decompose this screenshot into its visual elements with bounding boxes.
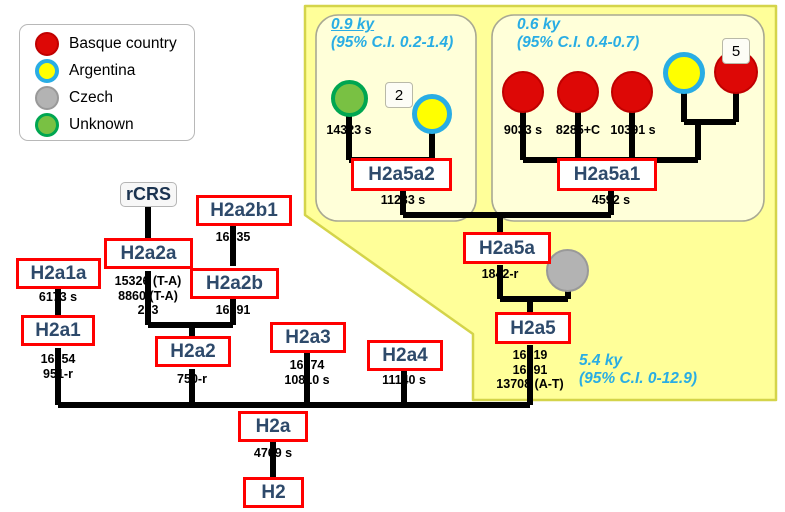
sample-node-argentina-h2a5a2[interactable] bbox=[412, 94, 452, 134]
haplogroup-h2a3[interactable]: H2a3 bbox=[270, 322, 346, 353]
mutation-h2a2-backbone: 750-r bbox=[152, 373, 232, 387]
circle-red-icon bbox=[35, 32, 59, 56]
diagram-canvas: 2 5 0.9 ky (95% C.I. 0.2-1.4) 0.6 ky (95… bbox=[0, 0, 785, 512]
mutation-h2a5-backbone: 165191629113708 (A-T) bbox=[478, 348, 582, 392]
mutation-h2a3-backbone: 1627410810 s bbox=[265, 358, 349, 387]
date-h2a5-ci: (95% C.I. 0-12.9) bbox=[579, 370, 697, 388]
haplogroup-h2a2[interactable]: H2a2 bbox=[155, 336, 231, 367]
mutation-unknown-h2a5a2: 14323 s bbox=[309, 124, 389, 138]
mutation-h2a2b1-h2a2b: 16235 bbox=[196, 231, 270, 245]
haplogroup-h2[interactable]: H2 bbox=[243, 477, 304, 508]
badge-basque-count: 5 bbox=[722, 38, 750, 64]
legend-label-basque: Basque country bbox=[69, 35, 177, 53]
haplogroup-h2a4[interactable]: H2a4 bbox=[367, 340, 443, 371]
haplogroup-h2a5a[interactable]: H2a5a bbox=[463, 232, 551, 264]
mutation-h2a-h2: 4769 s bbox=[233, 447, 313, 461]
sample-node-basque-3[interactable] bbox=[611, 71, 653, 113]
haplogroup-h2a1[interactable]: H2a1 bbox=[21, 315, 95, 346]
circle-gray-icon bbox=[35, 86, 59, 110]
mutation-h2a2a-h2a2: 15326 (T-A)8860 (T-A)263 bbox=[95, 274, 201, 318]
date-h2a5a2-age: 0.9 ky bbox=[331, 16, 374, 33]
legend-label-czech: Czech bbox=[69, 89, 113, 107]
mutation-h2a1-backbone: 16354951-r bbox=[18, 352, 98, 381]
haplogroup-h2a5a1[interactable]: H2a5a1 bbox=[557, 158, 657, 191]
sample-node-argentina-h2a5a1[interactable] bbox=[663, 52, 705, 94]
mutation-h2a5a1-h2a5a: 4592 s bbox=[571, 194, 651, 208]
date-h2a5a1-age: 0.6 ky bbox=[517, 16, 639, 34]
sample-node-basque-1[interactable] bbox=[502, 71, 544, 113]
mutation-basque3-h2a5a1: 10391 s bbox=[592, 124, 674, 138]
haplogroup-h2a2b[interactable]: H2a2b bbox=[190, 268, 279, 299]
haplogroup-h2a2b1[interactable]: H2a2b1 bbox=[196, 195, 292, 226]
mutation-h2a1a-h2a1: 6173 s bbox=[18, 291, 98, 305]
date-h2a5a1-ci: (95% C.I. 0.4-0.7) bbox=[517, 34, 639, 52]
legend-item-basque: Basque country bbox=[35, 32, 177, 56]
mutation-h2a5a2-h2a5a: 11233 s bbox=[363, 194, 443, 208]
haplogroup-h2a5[interactable]: H2a5 bbox=[495, 312, 571, 344]
legend-item-argentina: Argentina bbox=[35, 59, 135, 83]
circle-green-icon bbox=[35, 113, 59, 137]
haplogroup-h2a[interactable]: H2a bbox=[238, 411, 308, 442]
root-node-rcrs[interactable]: rCRS bbox=[120, 182, 177, 207]
legend-item-czech: Czech bbox=[35, 86, 113, 110]
haplogroup-h2a1a[interactable]: H2a1a bbox=[16, 258, 101, 289]
mutation-h2a5a-h2a5: 1842-r bbox=[460, 268, 540, 282]
date-h2a5: 5.4 ky (95% C.I. 0-12.9) bbox=[579, 352, 697, 388]
legend-panel: Basque country Argentina Czech Unknown bbox=[19, 24, 195, 141]
date-h2a5a2-ci: (95% C.I. 0.2-1.4) bbox=[331, 34, 453, 52]
legend-label-unknown: Unknown bbox=[69, 116, 134, 134]
mutation-h2a4-backbone: 11140 s bbox=[364, 374, 444, 388]
haplogroup-h2a2a[interactable]: H2a2a bbox=[104, 238, 193, 269]
sample-node-czech-h2a5[interactable] bbox=[546, 249, 589, 292]
mutation-h2a2b-h2a2: 16291 bbox=[196, 304, 270, 318]
legend-label-argentina: Argentina bbox=[69, 62, 135, 80]
date-h2a5-age: 5.4 ky bbox=[579, 352, 697, 370]
haplogroup-h2a5a2[interactable]: H2a5a2 bbox=[351, 158, 452, 191]
circle-yellow-icon bbox=[35, 59, 59, 83]
date-h2a5a1: 0.6 ky (95% C.I. 0.4-0.7) bbox=[517, 16, 639, 52]
date-h2a5a2: 0.9 ky (95% C.I. 0.2-1.4) bbox=[331, 16, 453, 52]
sample-node-basque-2[interactable] bbox=[557, 71, 599, 113]
legend-item-unknown: Unknown bbox=[35, 113, 134, 137]
badge-argentina-count: 2 bbox=[385, 82, 413, 108]
sample-node-unknown-h2a5a2[interactable] bbox=[331, 80, 368, 117]
